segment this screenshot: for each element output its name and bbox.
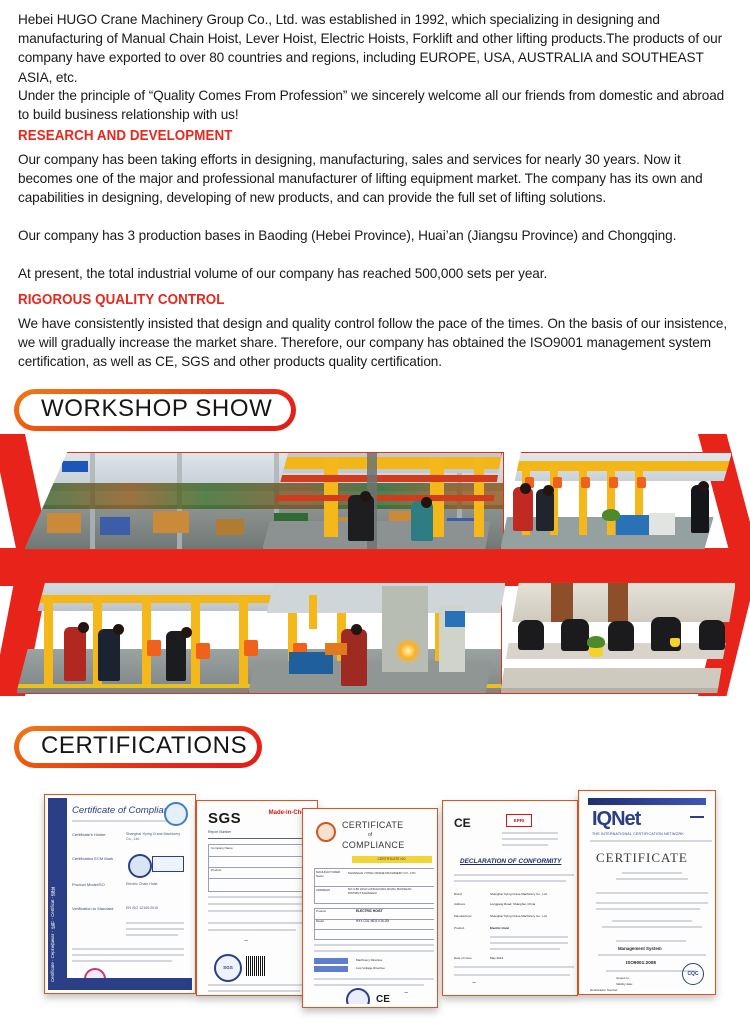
- cert4-field-3-value: Electric Hoist: [490, 926, 509, 930]
- certifications-banner: CERTIFICATIONS: [14, 726, 262, 768]
- quality-paragraph-1: We have consistently insisted that desig…: [18, 314, 732, 372]
- workshop-photo-band: [0, 430, 750, 705]
- cert5-standard: ISO9001:2008: [626, 960, 656, 965]
- cert2-field-0-label: Report Number: [208, 830, 231, 834]
- cert3-field-1-value: NO.4-80 LIKAI LONGGUANG ROAD, BAOSHAN DI…: [348, 887, 432, 895]
- cert3-title-line1: CERTIFICATE: [342, 820, 403, 830]
- cert4-field-4-value: May 2014: [490, 956, 503, 960]
- cert4-badge: EPRI: [506, 814, 532, 827]
- cert2-field-2-label: Product: [211, 868, 221, 872]
- cert3-field-2-label: Product: [316, 909, 326, 913]
- cert4-ce-mark-icon: CE: [454, 816, 471, 830]
- cert5-header-bar: [588, 798, 706, 805]
- cert3-field-0-label: MANUFACTURER Name: [316, 870, 344, 878]
- cert1-mark-box: [152, 856, 184, 872]
- cert2-info-table: [208, 844, 314, 892]
- red-stripe: [0, 548, 750, 586]
- cert3-title-line3: COMPLIANCE: [342, 840, 405, 850]
- cert3-emblem-icon: [316, 822, 336, 842]
- workshop-show-banner: WORKSHOP SHOW: [14, 389, 296, 431]
- cert1-field-3-value: EN ISO 12100:2010: [126, 906, 186, 911]
- cert1-field-0-label: Certificate's Holder: [72, 832, 106, 837]
- cert5-validity-label: Validity date:: [616, 982, 633, 986]
- cert5-subtitle: THE INTERNATIONAL CERTIFICATION NETWORK: [592, 832, 684, 836]
- cert4-field-1-value: Longgang Road, Shanghai, China: [490, 902, 535, 906]
- cert5-brand: IQNet: [592, 808, 640, 831]
- cert2-title: SGS: [208, 810, 241, 827]
- cert4-field-2-value: Shanghai Yiying Crane Machinery Co., Ltd…: [490, 914, 547, 918]
- cert-sgs-report: SGS Made-in-China Report Number Company …: [196, 800, 318, 996]
- cert1-ecm-mark-icon: [128, 854, 152, 878]
- photo-office-workstations: [500, 582, 736, 694]
- cert2-sgs-seal-icon: SGS: [214, 954, 242, 982]
- cert5-management-system: Management System: [618, 946, 662, 951]
- cert4-field-3-label: Product: [454, 926, 464, 930]
- photo-assembly-line-hoists: [262, 452, 502, 550]
- research-paragraph-2: Our company has 3 production bases in Ba…: [18, 226, 732, 245]
- cert3-cert-no-label: CERTIFICATE NO.: [352, 856, 432, 863]
- cert1-logo-icon: [164, 802, 188, 826]
- cert2-qr-code-icon: [246, 956, 266, 976]
- cert3-field-2-value: ELECTRIC HOIST: [356, 909, 383, 913]
- quality-heading: RIGOROUS QUALITY CONTROL: [18, 292, 225, 308]
- cert4-field-2-label: Manufacturer: [454, 914, 472, 918]
- research-heading: RESEARCH AND DEVELOPMENT: [18, 128, 232, 144]
- cert3-ce-mark-icon: CE: [376, 994, 390, 1004]
- certifications-label: CERTIFICATIONS: [19, 734, 247, 758]
- cert5-cqc-seal-icon: CQC: [682, 963, 704, 985]
- cert3-field-4-value: Machinery Directive: [356, 958, 382, 962]
- cert5-registration-label: Registration Number:: [590, 988, 618, 991]
- workshop-show-label: WORKSHOP SHOW: [19, 397, 272, 421]
- research-paragraph-1: Our company has been taking efforts in d…: [18, 150, 732, 208]
- cert3-title-line2: of: [368, 832, 372, 838]
- cert3-field-1-label: ADDRESS: [316, 888, 330, 892]
- cert-certificate-of-compliance-ce: CERTIFICATE of COMPLIANCE CERTIFICATE NO…: [302, 808, 438, 1008]
- cert-declaration-of-conformity: CE EPRI DECLARATION OF CONFORMITY Brand …: [442, 800, 578, 996]
- cert1-field-2-value: Electric Chain Hoist: [126, 882, 186, 887]
- cert4-field-4-label: Date of Issue: [454, 956, 472, 960]
- company-profile-page: Hebei HUGO Crane Machinery Group Co., Lt…: [0, 0, 750, 1032]
- cert3-field-3-value: HXY-CD1 MD1 0.5t-20t: [356, 919, 389, 923]
- intro-paragraph-1: Hebei HUGO Crane Machinery Group Co., Lt…: [18, 10, 732, 87]
- cert1-field-1-label: Certification ECM Mark: [72, 856, 113, 861]
- cert4-field-1-label: Address: [454, 902, 465, 906]
- cert1-field-2-label: Product Model/SO: [72, 882, 105, 887]
- cert4-field-0-label: Brand: [454, 892, 462, 896]
- cert3-field-3-label: Model: [316, 919, 324, 923]
- cert1-sidebar-text: Certificate - Сертификат - 证书 - Certific…: [50, 806, 65, 982]
- cert3-signature-icon: ~: [404, 990, 408, 997]
- intro-paragraph-2: Under the principle of “Quality Comes Fr…: [18, 86, 732, 124]
- cert5-dash-icon: [690, 816, 704, 818]
- cert2-field-1-label: Company Name: [211, 846, 233, 850]
- photo-inspection-workshop: [500, 452, 732, 550]
- cert4-signature-icon: ~: [472, 980, 476, 987]
- cert3-round-stamp-icon: [346, 988, 370, 1004]
- cert4-field-0-value: Shanghai Yiying Crane Machinery Co., Ltd…: [490, 892, 547, 896]
- cert-certificate-of-compliance: Certificate - Сертификат - 证书 - Certific…: [44, 794, 196, 994]
- cert1-field-3-label: Verification to Standard: [72, 906, 113, 911]
- cert5-title: CERTIFICATE: [596, 850, 688, 866]
- cert-iqnet-certificate: IQNet THE INTERNATIONAL CERTIFICATION NE…: [578, 790, 716, 995]
- cert1-field-0-value: Shanghai Yiying Crane Machinery Co., Ltd…: [126, 832, 186, 842]
- photo-welding-press-station: [248, 582, 506, 694]
- cert3-directive-code-1: [314, 966, 348, 972]
- cert5-issued-label: Issued on:: [616, 976, 630, 980]
- cert3-directive-code-0: [314, 958, 348, 964]
- research-paragraph-3: At present, the total industrial volume …: [18, 264, 732, 283]
- cert4-title: DECLARATION OF CONFORMITY: [460, 858, 561, 865]
- cert3-field-5-value: Low Voltage Directive: [356, 966, 385, 970]
- cert3-field-0-value: SHANGHAI YIYING CRANE MACHINERY CO., LTD: [348, 871, 432, 875]
- cert2-signature-icon: ~: [244, 938, 248, 945]
